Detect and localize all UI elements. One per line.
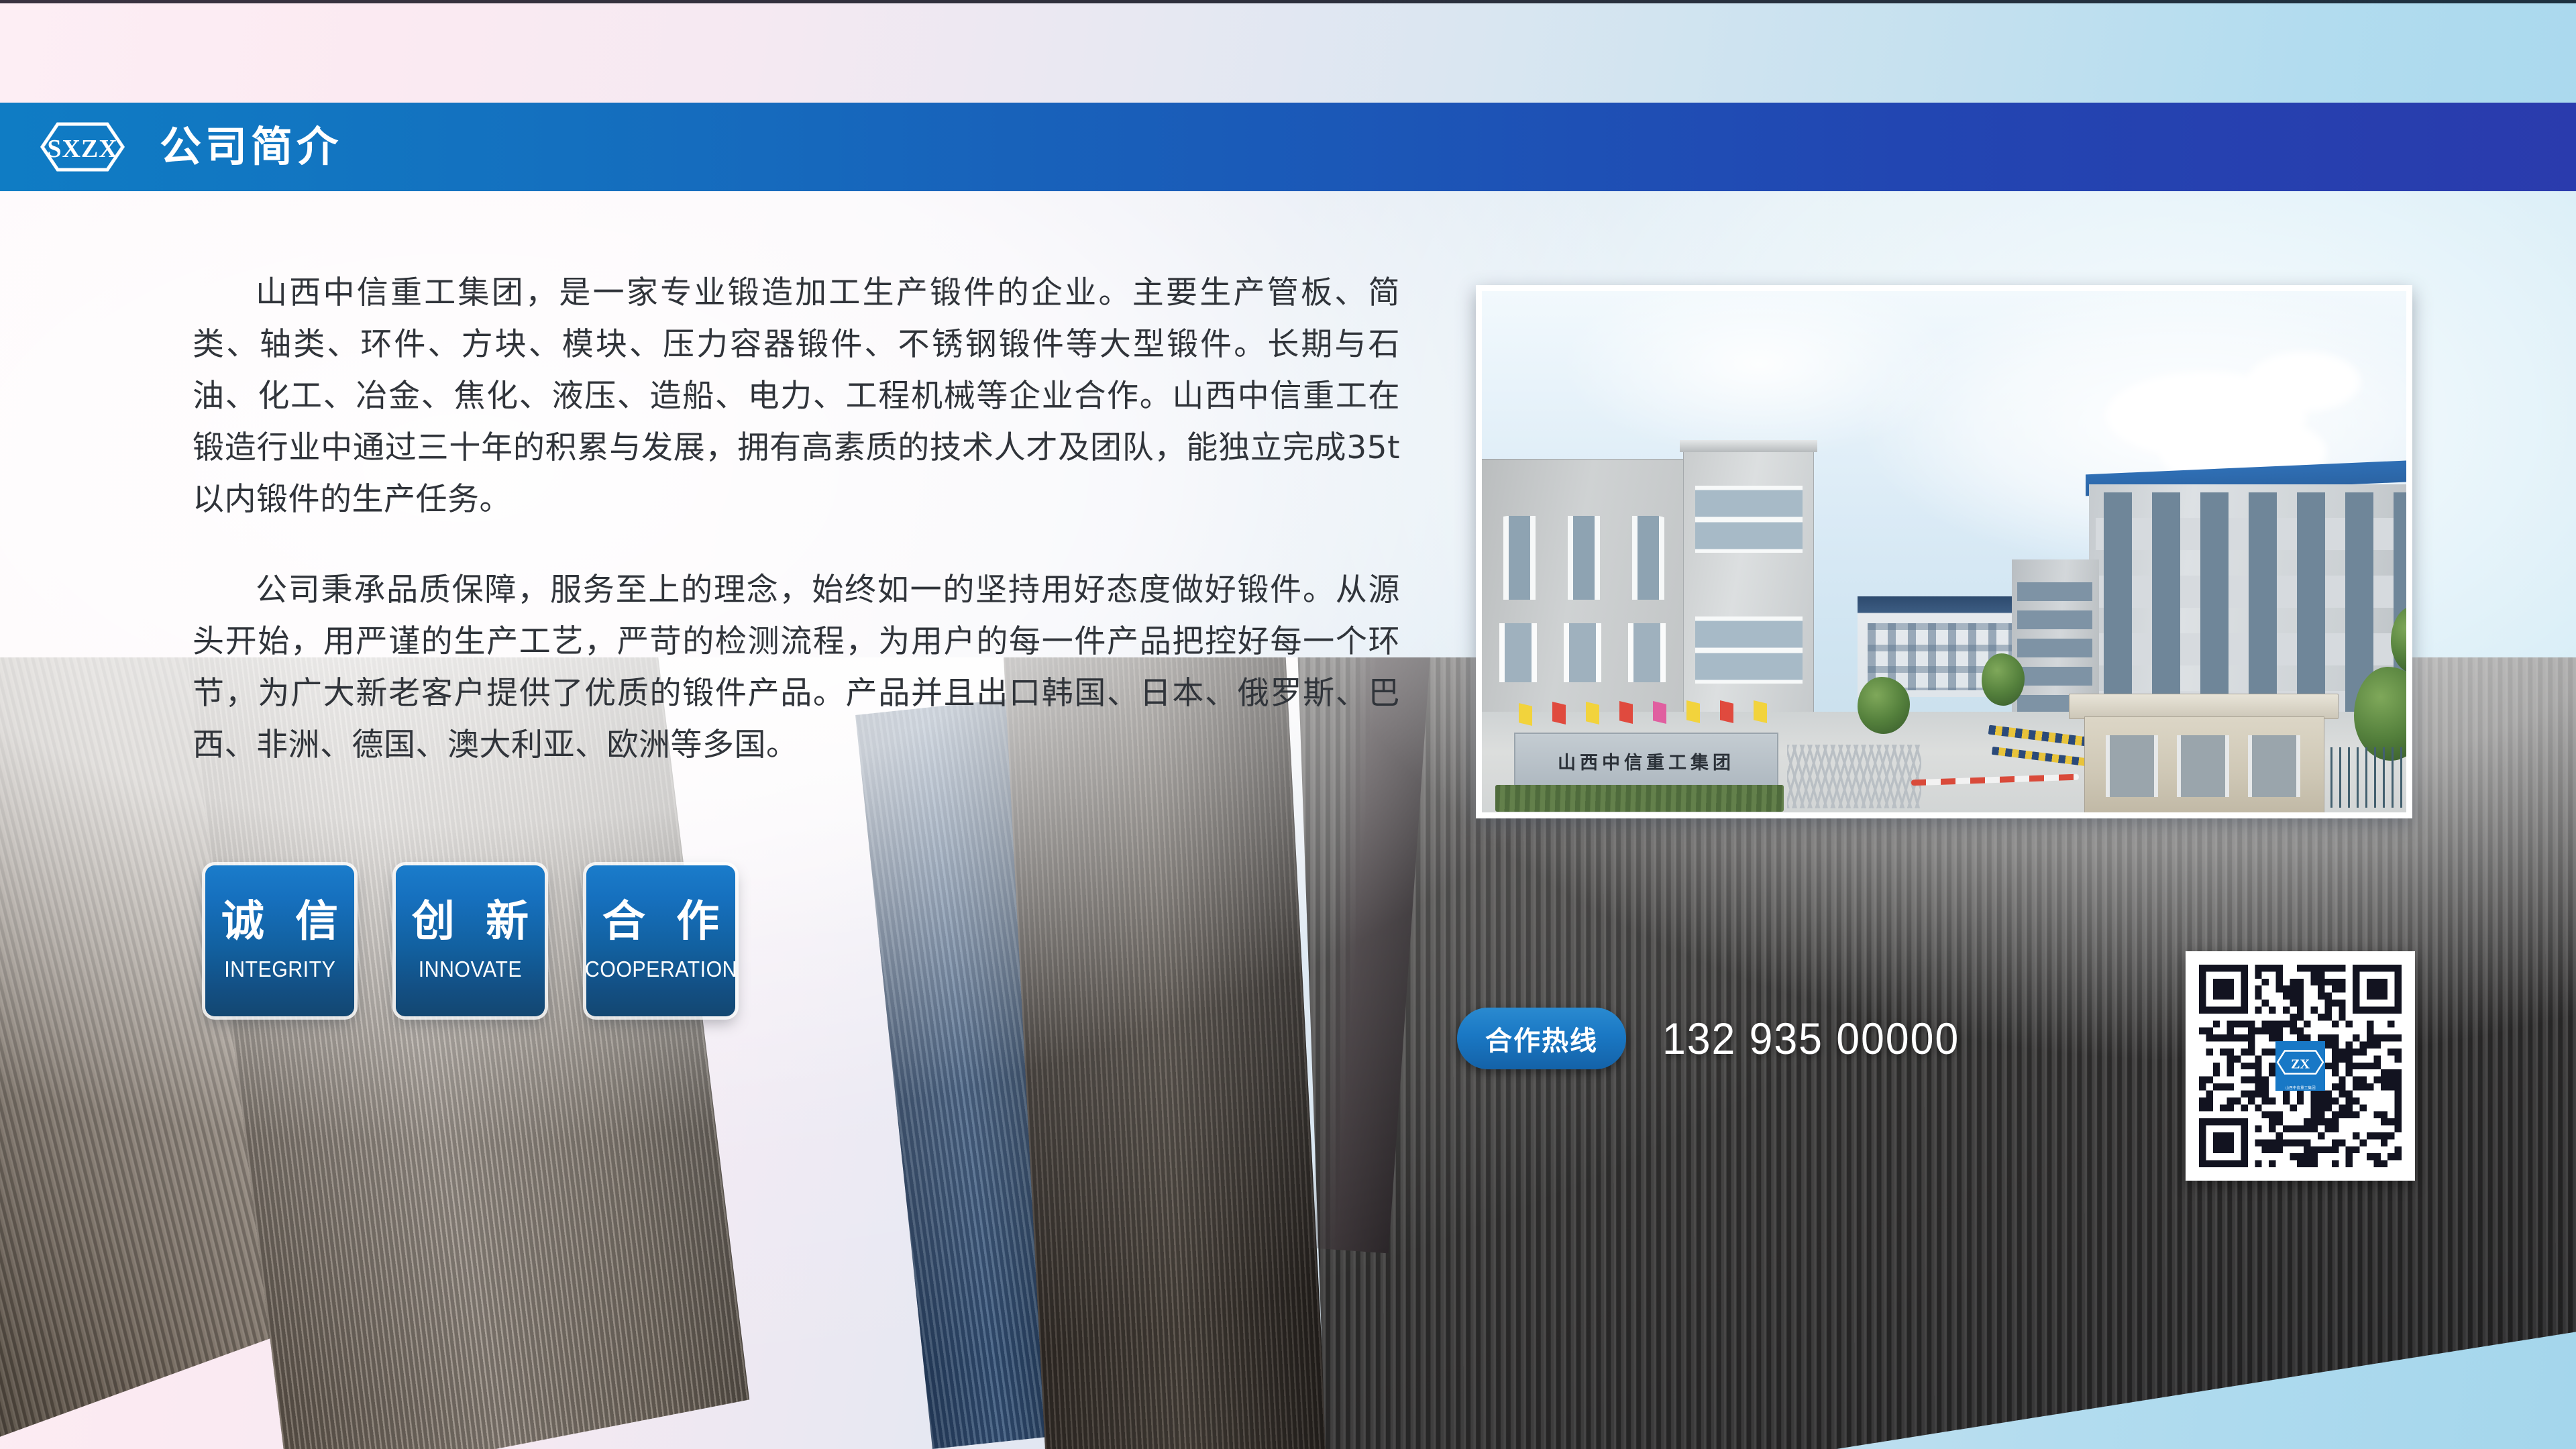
hotline-number: 132 935 00000 xyxy=(1662,1013,1960,1064)
photo-tree-4 xyxy=(1982,653,2025,706)
photo-flag-3 xyxy=(1586,702,1599,724)
photo-guardhouse-windows xyxy=(2098,735,2310,797)
hexagon-logo-icon: SXZX xyxy=(40,122,125,172)
photo-guardhouse-roof xyxy=(2069,694,2339,719)
hotline-group: 合作热线 132 935 00000 xyxy=(1457,1008,1975,1069)
photo-flag-5 xyxy=(1653,701,1666,724)
photo-arched-windows xyxy=(1489,516,1676,600)
intro-paragraph-2: 公司秉承品质保障，服务至上的理念，始终如一的坚持用好态度做好锻件。从源头开始，用… xyxy=(193,564,1400,771)
photo-company-sign-text: 山西中信重工集团 xyxy=(1558,748,1735,774)
photo-flag-4 xyxy=(1619,701,1633,724)
photo-left-tower-windows2 xyxy=(1695,616,1803,684)
qr-code[interactable]: ZX 山西中信重工集团 xyxy=(2186,951,2415,1181)
company-intro-text: 山西中信重工集团，是一家专业锻造加工生产锻件的企业。主要生产管板、简类、轴类、环… xyxy=(193,267,1400,771)
photo-building-left-cornice xyxy=(1680,440,1817,452)
value-card-integrity-cn: 诚 信 xyxy=(213,900,346,945)
svg-text:SXZX: SXZX xyxy=(47,135,117,163)
photo-flag-2 xyxy=(1552,702,1566,724)
qr-center-logo: ZX 山西中信重工集团 xyxy=(2275,1041,2325,1091)
photo-fence-right xyxy=(2330,747,2406,808)
value-card-integrity[interactable]: 诚 信 INTEGRITY xyxy=(205,865,354,1016)
value-card-cooperation-cn: 合 作 xyxy=(594,900,727,945)
value-card-cooperation[interactable]: 合 作 COOPERATION xyxy=(586,865,735,1016)
slide-canvas: SXZX 公司简介 山西中信重工集团，是一家专业锻造加工生产锻件的企业。主要生产… xyxy=(0,0,2576,1449)
photo-left-tower-windows xyxy=(1695,486,1803,553)
photo-left-windows-row1 xyxy=(1487,623,1682,682)
value-cards-group: 诚 信 INTEGRITY 创 新 INNOVATE 合 作 COOPERATI… xyxy=(205,865,735,1016)
value-card-innovate-en: INNOVATE xyxy=(419,957,522,982)
photo-tree-3 xyxy=(1858,677,1910,734)
photo-sliding-gate xyxy=(1787,745,1921,808)
intro-paragraph-1: 山西中信重工集团，是一家专业锻造加工生产锻件的企业。主要生产管板、简类、轴类、环… xyxy=(193,267,1400,525)
photo-flag-6 xyxy=(1686,700,1700,723)
photo-flag-7 xyxy=(1720,700,1733,723)
factory-photo-frame: 山西中信重工集团 xyxy=(1476,285,2412,818)
photo-cloud-3 xyxy=(2247,352,2361,412)
page-title: 公司简介 xyxy=(160,126,342,168)
photo-flag-8 xyxy=(1754,700,1767,723)
value-card-integrity-en: INTEGRITY xyxy=(224,957,335,982)
factory-photo: 山西中信重工集团 xyxy=(1482,291,2406,812)
svg-text:ZX: ZX xyxy=(2291,1057,2310,1072)
value-card-innovate[interactable]: 创 新 INNOVATE xyxy=(396,865,545,1016)
hotline-badge[interactable]: 合作热线 xyxy=(1457,1008,1626,1069)
value-card-innovate-cn: 创 新 xyxy=(404,900,537,945)
photo-hedge xyxy=(1495,785,1784,812)
value-card-cooperation-en: COOPERATION xyxy=(584,957,737,982)
section-header-bar: SXZX 公司简介 xyxy=(0,103,2576,191)
photo-flag-1 xyxy=(1519,703,1532,726)
photo-company-sign: 山西中信重工集团 xyxy=(1514,733,1778,789)
top-edge-line xyxy=(0,0,2576,3)
qr-center-logo-sub: 山西中信重工集团 xyxy=(2285,1085,2315,1090)
